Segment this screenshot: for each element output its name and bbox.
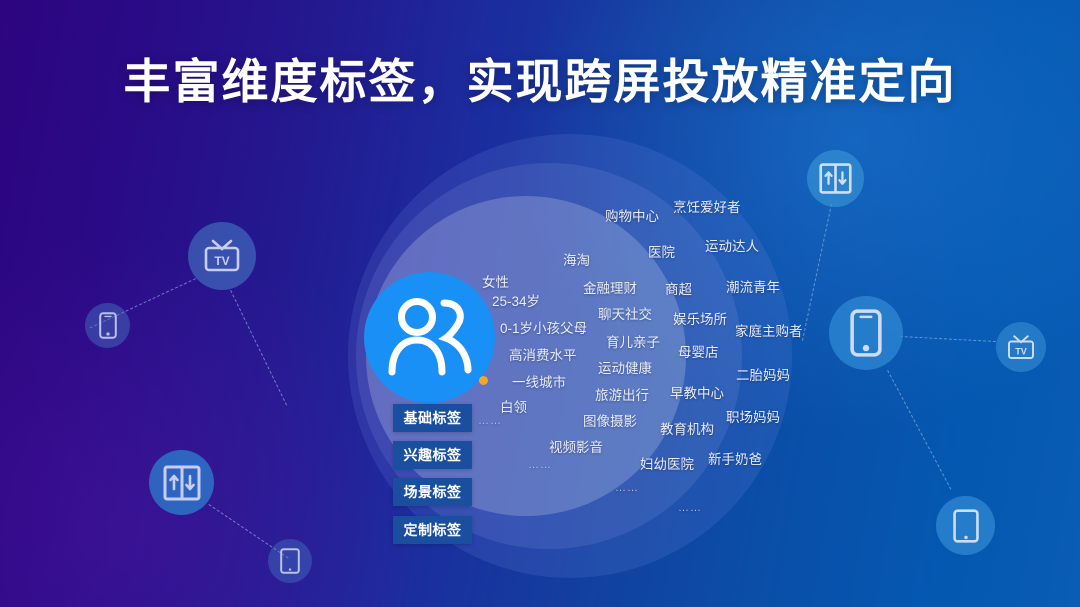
label-custom-5: 职场妈妈 bbox=[726, 406, 780, 426]
label-custom-0: 烹饪爱好者 bbox=[673, 196, 741, 216]
label-interest-7: 视频影音 bbox=[549, 436, 603, 456]
elevator-icon bbox=[819, 162, 852, 195]
device-tv-left[interactable]: TV bbox=[188, 222, 256, 290]
label-scene-5: 早教中心 bbox=[670, 382, 724, 402]
tablet-icon bbox=[280, 548, 300, 574]
phone-icon bbox=[99, 312, 117, 339]
label-interest-ellipsis: …… bbox=[528, 459, 552, 471]
label-interest-3: 育儿亲子 bbox=[606, 331, 660, 351]
label-scene-3: 娱乐场所 bbox=[673, 308, 727, 328]
label-custom-2: 潮流青年 bbox=[726, 276, 780, 296]
label-custom-ellipsis: …… bbox=[678, 502, 702, 514]
device-tablet-right[interactable] bbox=[936, 496, 995, 555]
phone-icon bbox=[850, 309, 882, 357]
slide-canvas: 丰富维度标签，实现跨屏投放精准定向 基础标签 兴趣标签 场景标签 定制标签 女性… bbox=[0, 0, 1080, 607]
device-elevator-left[interactable] bbox=[149, 450, 214, 515]
link-elevator-right-down bbox=[802, 204, 832, 341]
label-interest-6: 图像摄影 bbox=[583, 410, 637, 430]
label-basic-2: 0-1岁小孩父母 bbox=[500, 317, 587, 337]
label-basic-5: 白领 bbox=[500, 396, 527, 416]
label-interest-2: 聊天社交 bbox=[598, 303, 652, 323]
orange-dot bbox=[479, 376, 488, 385]
label-scene-0: 购物中心 bbox=[605, 205, 659, 225]
elevator-icon bbox=[163, 464, 201, 502]
tv-icon: TV bbox=[1006, 334, 1036, 361]
svg-text:TV: TV bbox=[1015, 346, 1027, 356]
device-tv-right[interactable]: TV bbox=[996, 322, 1046, 372]
label-scene-6: 教育机构 bbox=[660, 418, 714, 438]
label-custom-3: 家庭主购者 bbox=[735, 320, 803, 340]
chip-custom-tag[interactable]: 定制标签 bbox=[393, 516, 472, 544]
chip-interest-tag[interactable]: 兴趣标签 bbox=[393, 441, 472, 469]
label-basic-3: 高消费水平 bbox=[509, 344, 577, 364]
device-phone-left[interactable] bbox=[85, 303, 130, 348]
device-elevator-right[interactable] bbox=[807, 150, 864, 207]
device-tablet-left[interactable] bbox=[268, 539, 312, 583]
label-scene-ellipsis: …… bbox=[615, 482, 639, 494]
label-basic-1: 25-34岁 bbox=[492, 290, 540, 310]
svg-text:TV: TV bbox=[214, 254, 229, 268]
label-interest-0: 海淘 bbox=[563, 249, 590, 269]
label-scene-1: 医院 bbox=[648, 241, 675, 261]
people-icon bbox=[386, 298, 474, 376]
label-scene-2: 商超 bbox=[665, 278, 692, 298]
label-interest-4: 运动健康 bbox=[598, 357, 652, 377]
label-interest-5: 旅游出行 bbox=[595, 384, 649, 404]
page-title: 丰富维度标签，实现跨屏投放精准定向 bbox=[0, 43, 1080, 112]
tablet-icon bbox=[953, 509, 979, 543]
label-custom-6: 新手奶爸 bbox=[708, 448, 762, 468]
label-interest-1: 金融理财 bbox=[583, 277, 637, 297]
tv-icon: TV bbox=[202, 238, 242, 274]
label-basic-4: 一线城市 bbox=[512, 371, 566, 391]
label-scene-7: 妇幼医院 bbox=[640, 453, 694, 473]
link-tv-to-center bbox=[230, 290, 287, 405]
chip-basic-tag[interactable]: 基础标签 bbox=[393, 404, 472, 432]
link-phone-right-to-tv-right bbox=[900, 336, 996, 342]
label-custom-1: 运动达人 bbox=[705, 235, 759, 255]
label-custom-4: 二胎妈妈 bbox=[736, 364, 790, 384]
link-phone-right-to-tablet-right bbox=[887, 370, 951, 490]
chip-scene-tag[interactable]: 场景标签 bbox=[393, 478, 472, 506]
device-phone-right[interactable] bbox=[829, 296, 903, 370]
label-basic-0: 女性 bbox=[482, 271, 509, 291]
label-basic-ellipsis: …… bbox=[478, 415, 502, 427]
label-scene-4: 母婴店 bbox=[678, 341, 719, 361]
